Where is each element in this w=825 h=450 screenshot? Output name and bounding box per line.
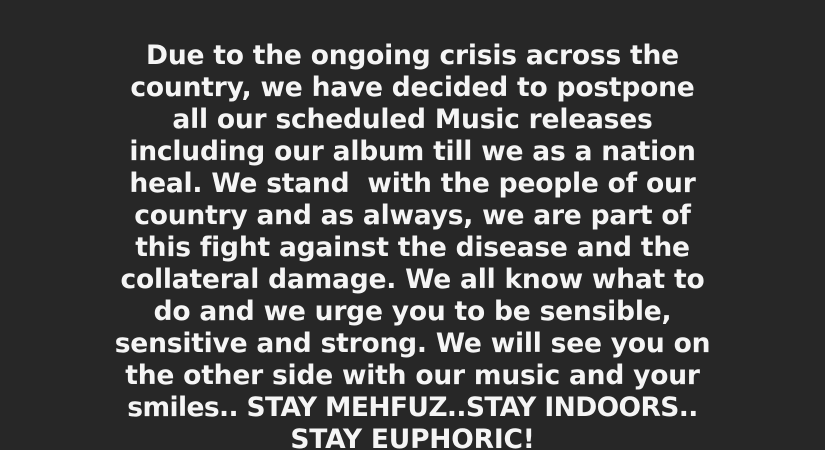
statement-line: sensitive and strong. We will see you on bbox=[16, 328, 809, 360]
statement-card: Due to the ongoing crisis across the cou… bbox=[0, 0, 825, 450]
statement-line: Due to the ongoing crisis across the bbox=[16, 40, 809, 72]
statement-line: heal. We stand with the people of our bbox=[16, 168, 809, 200]
statement-line: do and we urge you to be sensible, bbox=[16, 296, 809, 328]
statement-line: STAY EUPHORIC! bbox=[16, 424, 809, 450]
statement-line: country, we have decided to postpone bbox=[16, 72, 809, 104]
statement-line: the other side with our music and your bbox=[16, 360, 809, 392]
statement-line: country and as always, we are part of bbox=[16, 200, 809, 232]
statement-line: including our album till we as a nation bbox=[16, 136, 809, 168]
statement-text-block: Due to the ongoing crisis across the cou… bbox=[0, 40, 825, 450]
statement-line: collateral damage. We all know what to bbox=[16, 264, 809, 296]
statement-line: all our scheduled Music releases bbox=[16, 104, 809, 136]
statement-line: this fight against the disease and the bbox=[16, 232, 809, 264]
statement-line: smiles.. STAY MEHFUZ..STAY INDOORS.. bbox=[16, 392, 809, 424]
